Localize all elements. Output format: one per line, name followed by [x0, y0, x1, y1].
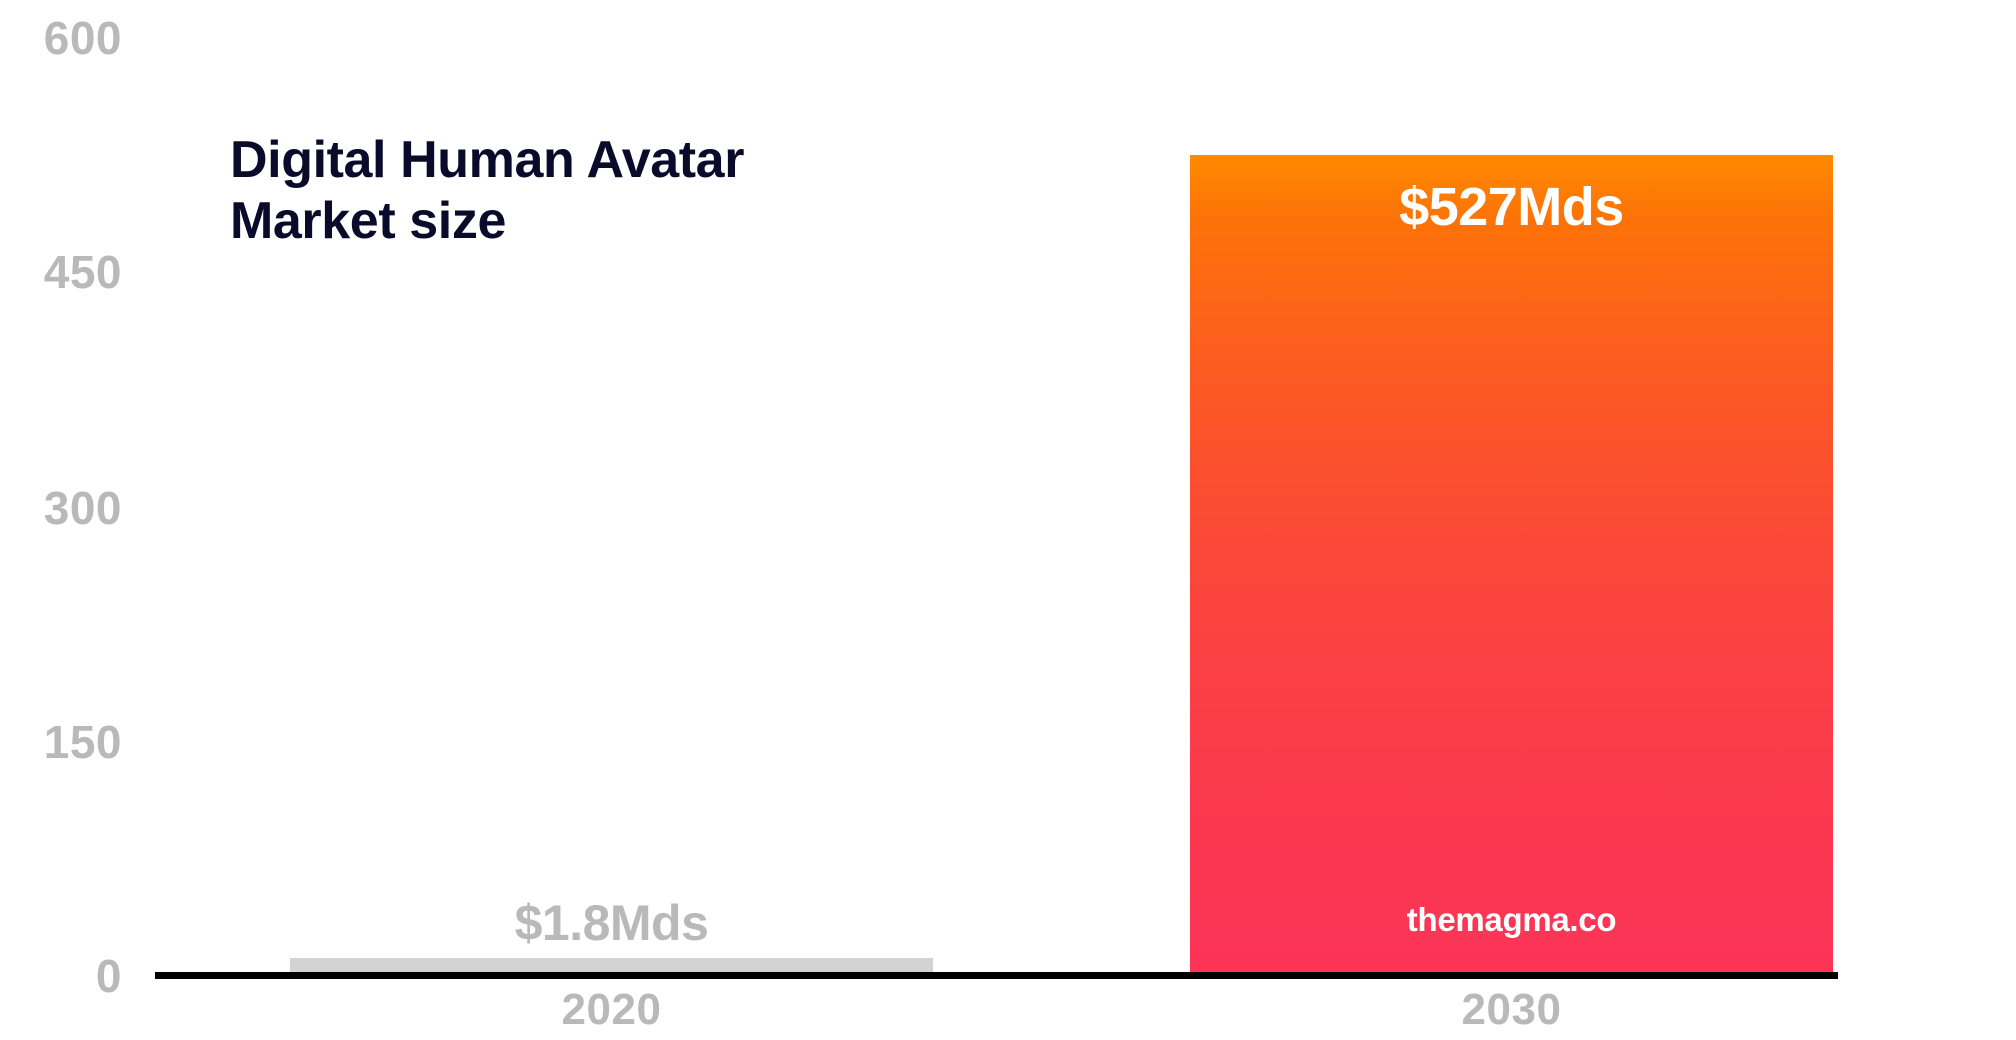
- chart-title-line-1: Digital Human Avatar: [230, 130, 1050, 191]
- chart-title-line-2: Market size: [230, 191, 1050, 252]
- x-axis-label-2020: 2020: [290, 980, 933, 1040]
- chart-canvas: 600 450 300 150 0 $1.8Mds $527Mds themag…: [0, 0, 2016, 1040]
- chart-title: Digital Human Avatar Market size: [230, 130, 1050, 253]
- watermark-label: themagma.co: [1190, 903, 1833, 936]
- bar-2030[interactable]: [1190, 155, 1833, 975]
- x-axis-label-2030: 2030: [1190, 980, 1833, 1040]
- x-axis-line: [155, 972, 1838, 979]
- bar-value-label-2020: $1.8Mds: [290, 898, 933, 948]
- bar-value-label-2030: $527Mds: [1190, 180, 1833, 234]
